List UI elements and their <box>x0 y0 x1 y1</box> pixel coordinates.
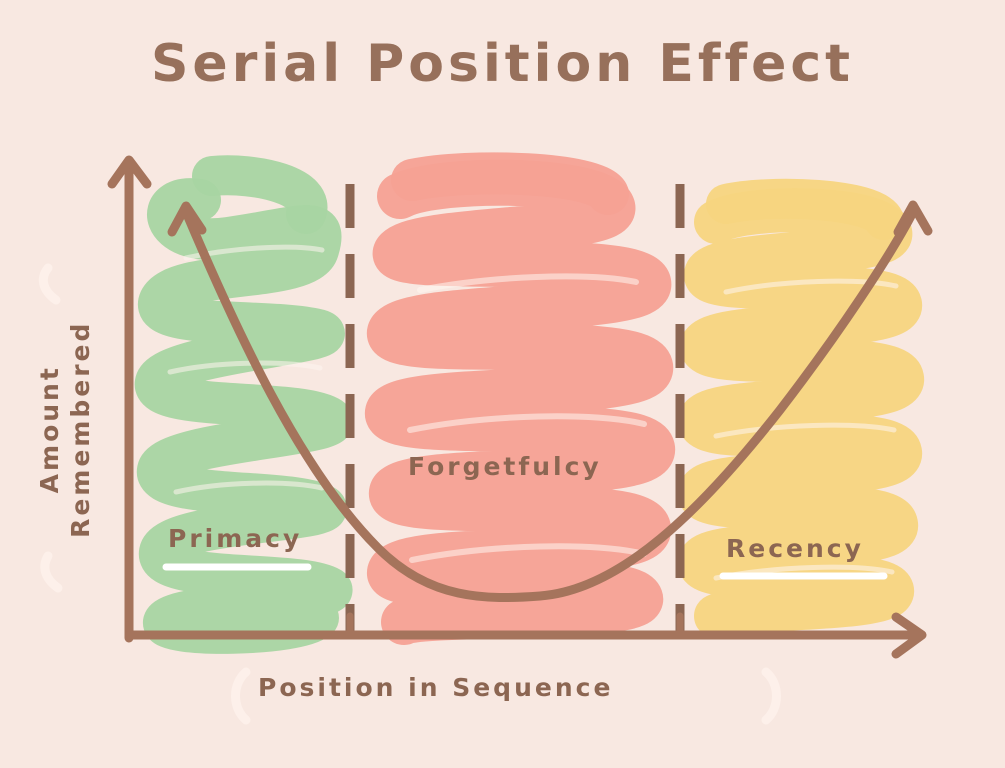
zone-label-forgetfulcy: Forgetfulcy <box>408 452 602 481</box>
infographic-canvas: Serial Position Effect Primacy Forgetful… <box>0 0 1005 768</box>
y-axis-label-line2: Remembered <box>65 299 96 559</box>
chart-artwork <box>0 0 1005 768</box>
zone-label-primacy: Primacy <box>168 524 302 553</box>
bracket-y-top <box>43 268 56 300</box>
bracket-y-bottom <box>45 556 58 588</box>
y-axis-label: Amount Remembered <box>34 299 97 559</box>
page-title: Serial Position Effect <box>0 34 1005 94</box>
bracket-x-right <box>766 672 777 720</box>
bracket-x-left <box>236 672 247 720</box>
y-axis-label-line1: Amount <box>34 299 65 559</box>
zone-label-recency: Recency <box>726 534 864 563</box>
x-axis-label: Position in Sequence <box>258 673 613 702</box>
